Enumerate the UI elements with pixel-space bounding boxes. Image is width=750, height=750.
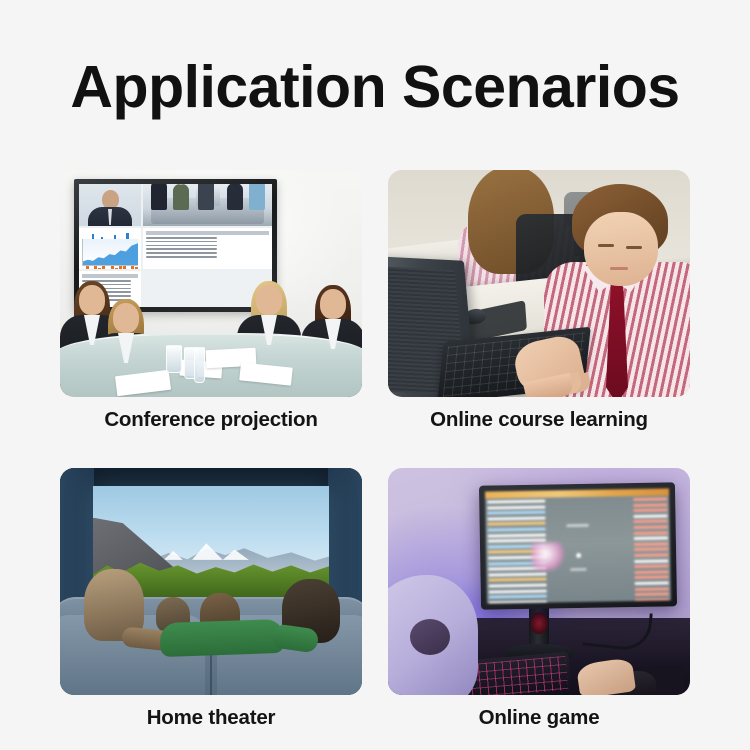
remote-participant-video	[79, 184, 141, 226]
water-glass	[166, 345, 182, 373]
mouth	[610, 267, 628, 270]
game-hud-marker	[567, 523, 589, 526]
online-course-learning-photo	[388, 170, 690, 397]
online-game-photo	[388, 468, 690, 695]
scenario-card-conference-projection[interactable]: Conference projection	[60, 170, 362, 432]
scenario-caption-online-game: Online game	[479, 706, 600, 730]
remote-person	[249, 184, 265, 210]
head	[113, 303, 139, 333]
game-hud-marker	[570, 568, 586, 571]
scenario-grid: Conference projection	[60, 170, 690, 730]
text-line	[146, 248, 217, 250]
scenario-caption-online-course-learning: Online course learning	[430, 408, 648, 432]
game-right-text-panel	[633, 497, 669, 598]
home-theater-scene	[60, 468, 362, 695]
head	[256, 285, 282, 315]
game-crosshair-dot	[576, 553, 581, 558]
presentation-charts-panel	[79, 228, 141, 269]
page-title: Application Scenarios	[0, 54, 750, 120]
text-line	[146, 252, 217, 254]
blue-area-chart	[82, 239, 138, 266]
ceiling-soffit	[60, 468, 362, 488]
agenda-list-panel	[143, 228, 272, 269]
remote-person	[151, 184, 167, 210]
home-theater-photo	[60, 468, 362, 695]
application-scenarios-page: Application Scenarios	[0, 0, 750, 750]
remote-person	[198, 184, 214, 210]
remote-meeting-room-video	[143, 184, 272, 226]
scenario-caption-conference-projection: Conference projection	[104, 408, 317, 432]
necktie-shape	[108, 209, 112, 225]
monitor-stand-red-ring	[530, 612, 548, 634]
scenario-card-online-game[interactable]: Online game	[388, 468, 690, 730]
panel-header-bar	[146, 231, 269, 235]
scenario-card-home-theater[interactable]: Home theater	[60, 468, 362, 730]
gaming-setup-scene	[388, 468, 690, 695]
man-green-sleeve-arm	[159, 619, 284, 657]
head	[320, 289, 346, 319]
remote-person	[173, 184, 189, 210]
panel-header-bar	[82, 274, 138, 278]
computer-lab-scene	[388, 170, 690, 397]
conference-projection-photo	[60, 170, 362, 397]
game-screen	[485, 488, 671, 603]
gaming-monitor	[479, 482, 677, 609]
boy-face	[584, 212, 658, 286]
scenario-card-online-course-learning[interactable]: Online course learning	[388, 170, 690, 432]
text-line	[146, 245, 217, 247]
water-bottle	[194, 347, 205, 383]
text-line	[146, 241, 217, 243]
eyebrows	[598, 244, 614, 247]
conference-room-scene	[60, 170, 362, 397]
hoodie-sleeve-cuff	[410, 619, 450, 655]
text-line	[146, 256, 217, 258]
game-character-highlight	[532, 542, 566, 571]
remote-person	[227, 184, 243, 210]
text-line	[146, 237, 217, 239]
scenario-caption-home-theater: Home theater	[147, 706, 276, 730]
